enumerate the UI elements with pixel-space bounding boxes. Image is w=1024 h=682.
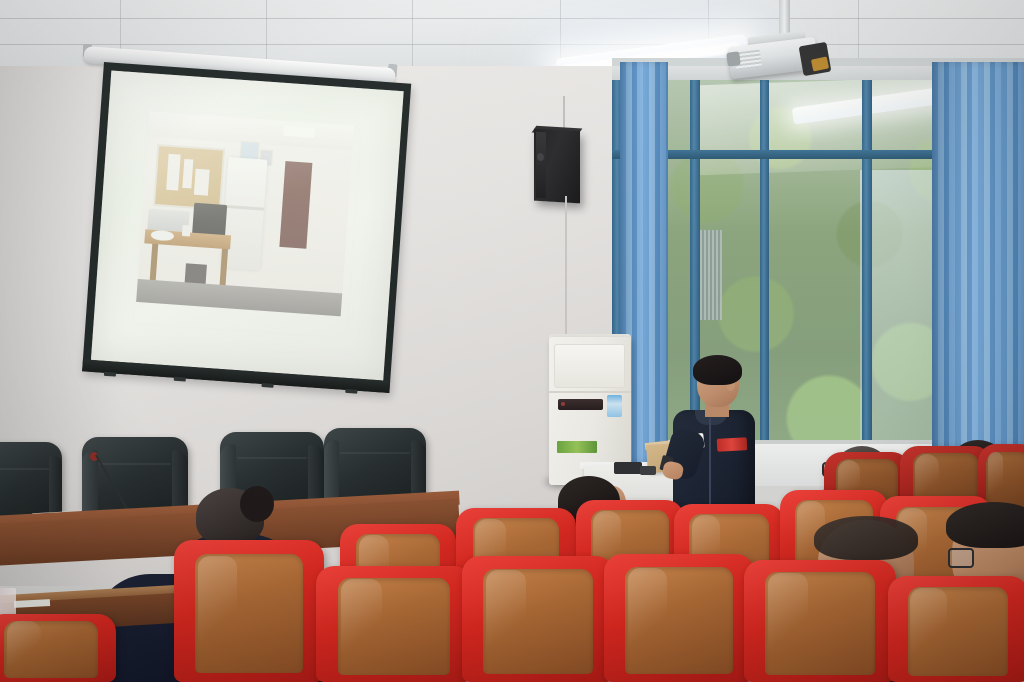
auditorium-seat[interactable] <box>462 556 614 682</box>
ac-panel-seam <box>549 391 631 393</box>
ac-energy-label <box>607 395 622 417</box>
ac-display-panel[interactable] <box>558 399 603 410</box>
ac-brand-logo-icon <box>557 441 597 453</box>
speaker-grille <box>536 132 546 199</box>
auditorium-seat[interactable] <box>604 554 754 682</box>
presenter-hair <box>693 355 742 385</box>
speaker-driver-icon <box>537 153 544 161</box>
right-curtain-shading <box>932 62 1024 482</box>
glasses-icon <box>948 548 974 568</box>
presenter-jacket-zip <box>709 418 711 510</box>
auditorium-seat[interactable] <box>744 560 896 682</box>
window-mullion <box>862 78 872 458</box>
jacket-logo-icon <box>717 437 748 452</box>
dark-device-secondary[interactable] <box>640 466 656 475</box>
wall-speaker <box>534 129 580 204</box>
projection-screen[interactable] <box>82 62 411 393</box>
auditorium-seat[interactable] <box>888 576 1024 682</box>
projection-screen-surface <box>91 71 404 381</box>
screen-glare <box>91 71 404 381</box>
auditorium-seat[interactable] <box>0 614 116 682</box>
auditorium-seat[interactable] <box>316 566 472 682</box>
conference-room-photo: Conference room presentation A man in a … <box>0 0 1024 682</box>
speaker-cable-run <box>565 196 567 346</box>
auditorium-seat[interactable] <box>174 540 324 682</box>
dark-device[interactable] <box>614 462 642 474</box>
ac-air-grille <box>554 344 625 388</box>
window-mullion <box>760 74 769 464</box>
window-mesh-panel <box>700 230 722 320</box>
projector-lens-icon <box>726 51 741 66</box>
